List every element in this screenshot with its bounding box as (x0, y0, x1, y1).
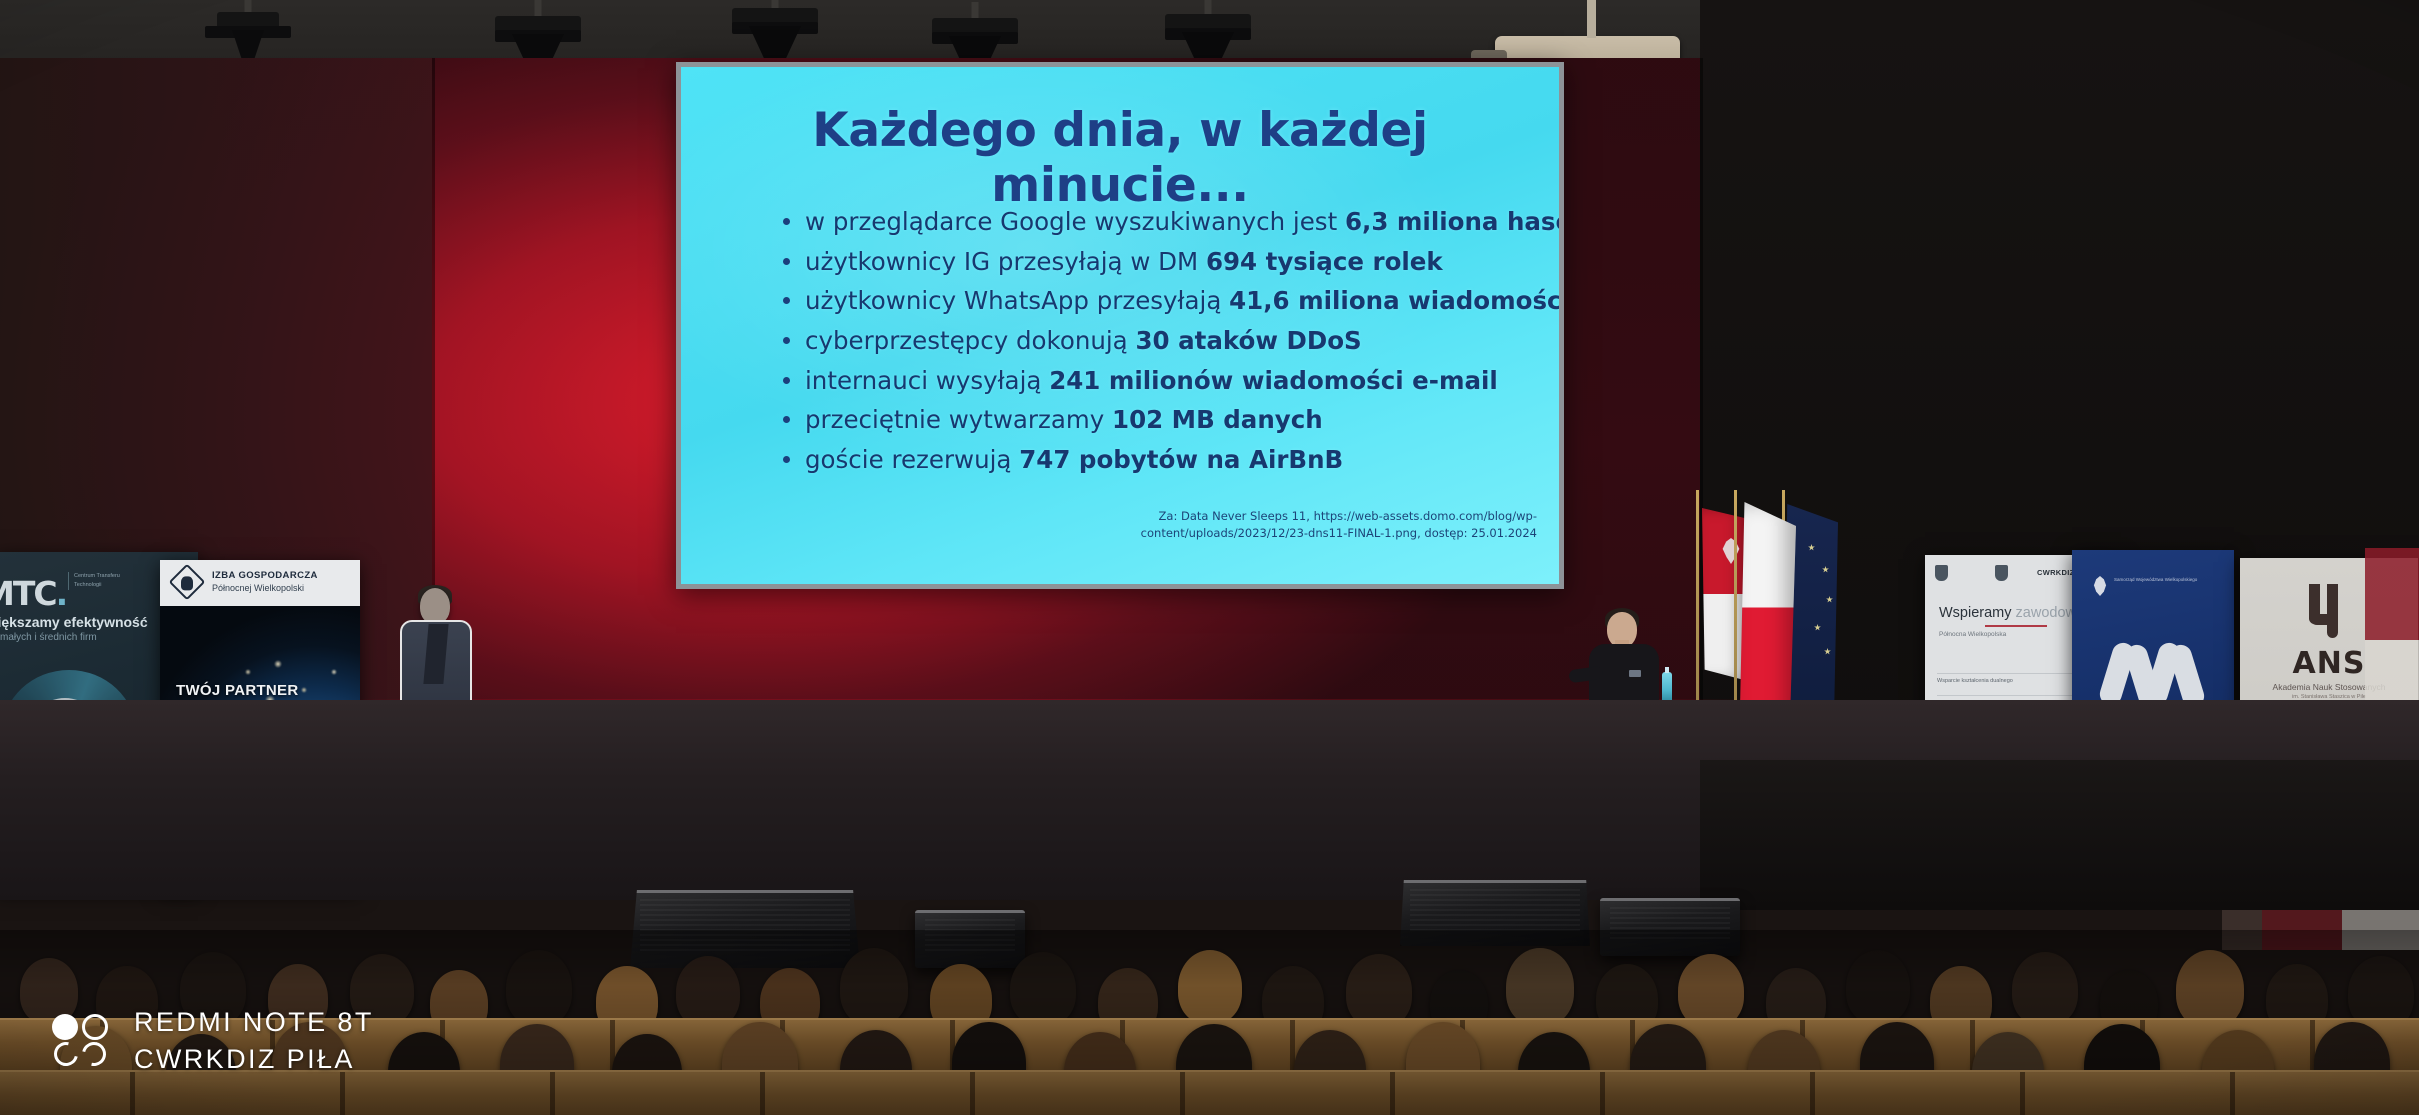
slide-title: Każdego dnia, w każdej minucie... (681, 103, 1559, 213)
audience-head (840, 948, 908, 1026)
wielkopolska-crest-block: Samorząd Województwa Wielkopolskiego (2092, 576, 2212, 596)
izba-header: IZBA GOSPODARCZA Północnej Wielkopolski (160, 560, 360, 606)
mtc-logo-dot: . (56, 574, 67, 613)
audience-head (2012, 952, 2078, 1026)
eu-stars (1806, 544, 1834, 674)
water-bottle (1662, 672, 1672, 702)
watermark-line-1: REDMI NOTE 8T (134, 1004, 374, 1040)
slide-bullet-2: użytkownicy IG przesyłają w DM 694 tysią… (777, 242, 1519, 282)
mtc-logo-text: MTC (0, 574, 56, 613)
audience-head (1010, 952, 1076, 1026)
izba-name-line2: Północnej Wielkopolski (212, 583, 304, 593)
bullet-value: 241 milionów wiadomości e-mail (1049, 366, 1498, 395)
izba-diamond-icon (169, 564, 206, 601)
audience-head (1678, 954, 1744, 1028)
source-line-2: content/uploads/2023/12/23-dns11-FINAL-1… (1141, 526, 1537, 540)
bullet-lead: użytkownicy WhatsApp przesyłają (805, 286, 1229, 315)
bullet-value: 30 ataków DDoS (1136, 326, 1362, 355)
crest-icon (1995, 565, 2008, 581)
bullet-value: 694 tysiące rolek (1206, 247, 1443, 276)
wspieramy-headline: Wspieramy zawodowo (1939, 605, 2084, 621)
slide-bullet-3: użytkownicy WhatsApp przesyłają 41,6 mil… (777, 281, 1519, 321)
bullet-lead: przeciętnie wytwarzamy (805, 405, 1112, 434)
slide-bullet-4: cyberprzestępcy dokonują 30 ataków DDoS (777, 321, 1519, 361)
bullet-value: 747 pobytów na AirBnB (1019, 445, 1343, 474)
audience-head (2176, 950, 2244, 1028)
slide-bullet-7: goście rezerwują 747 pobytów na AirBnB (777, 440, 1519, 480)
bullet-value: 102 MB danych (1112, 405, 1323, 434)
bullet-lead: użytkownicy IG przesyłają w DM (805, 247, 1206, 276)
audience-head (1178, 950, 1242, 1024)
bullet-lead: goście rezerwują (805, 445, 1019, 474)
wielkopolska-crest-text: Samorząd Województwa Wielkopolskiego (2114, 576, 2197, 584)
audience-head (1846, 950, 1910, 1024)
slide-bullet-list: w przeglądarce Google wyszukiwanych jest… (777, 202, 1519, 480)
audience-head (1506, 948, 1574, 1026)
conference-photo: Każdego dnia, w każdej minucie... w prze… (0, 0, 2419, 1115)
ans-u-logo-icon (2307, 584, 2351, 638)
slide-bullet-1: w przeglądarce Google wyszukiwanych jest… (777, 202, 1519, 242)
izba-name-line1: IZBA GOSPODARCZA (212, 570, 318, 581)
watermark-line-2: CWRKDIZ PIŁA (134, 1041, 374, 1077)
monitor-grille (1410, 889, 1580, 932)
wielkopolska-w-logo (2104, 642, 2202, 708)
watermark-text: REDMI NOTE 8T CWRKDIZ PIŁA (134, 1004, 374, 1077)
audience-head (506, 950, 572, 1026)
cwrkdiz-logo-text: CWRKDIZ (2037, 568, 2075, 577)
mtc-logo: MTC. (0, 574, 66, 613)
stage-floor-right (1700, 760, 2419, 910)
speaker-name-badge (1629, 670, 1641, 677)
audience-head (1346, 954, 1412, 1028)
wspieramy-subline: Północna Wielkopolska (1939, 631, 2006, 638)
flag-cloth (1702, 508, 1746, 680)
eagle-crest-icon (2092, 576, 2108, 596)
bullet-lead: internauci wysyłają (805, 366, 1049, 395)
projection-screen-frame: Każdego dnia, w każdej minucie... w prze… (676, 62, 1564, 589)
crest-icon (1935, 565, 1948, 581)
slide-bullet-5: internauci wysyłają 241 milionów wiadomo… (777, 361, 1519, 401)
redmi-dual-camera-logo-icon (52, 1012, 114, 1070)
slide-source-citation: Za: Data Never Sleeps 11, https://web-as… (1077, 508, 1537, 543)
slide-bullet-6: przeciętnie wytwarzamy 102 MB danych (777, 400, 1519, 440)
projection-screen: Każdego dnia, w każdej minucie... w prze… (681, 67, 1559, 584)
source-line-1: Za: Data Never Sleeps 11, https://web-as… (1159, 509, 1537, 523)
bullet-value: 41,6 miliona wiadomości (1229, 286, 1559, 315)
cutout-head (420, 588, 450, 624)
bullet-lead: w przeglądarce Google wyszukiwanych jest (805, 207, 1345, 236)
camera-watermark: REDMI NOTE 8T CWRKDIZ PIŁA (52, 1004, 374, 1077)
bullet-value: 6,3 miliona haseł (1345, 207, 1559, 236)
wspieramy-underline (1985, 625, 2047, 627)
bullet-lead: cyberprzestępcy dokonują (805, 326, 1136, 355)
izba-claim-line1: TWÓJ PARTNER (176, 682, 299, 699)
mtc-logo-subtext: Centrum Transferu Technologii (68, 572, 138, 590)
eagle-emblem-icon (1720, 538, 1742, 564)
